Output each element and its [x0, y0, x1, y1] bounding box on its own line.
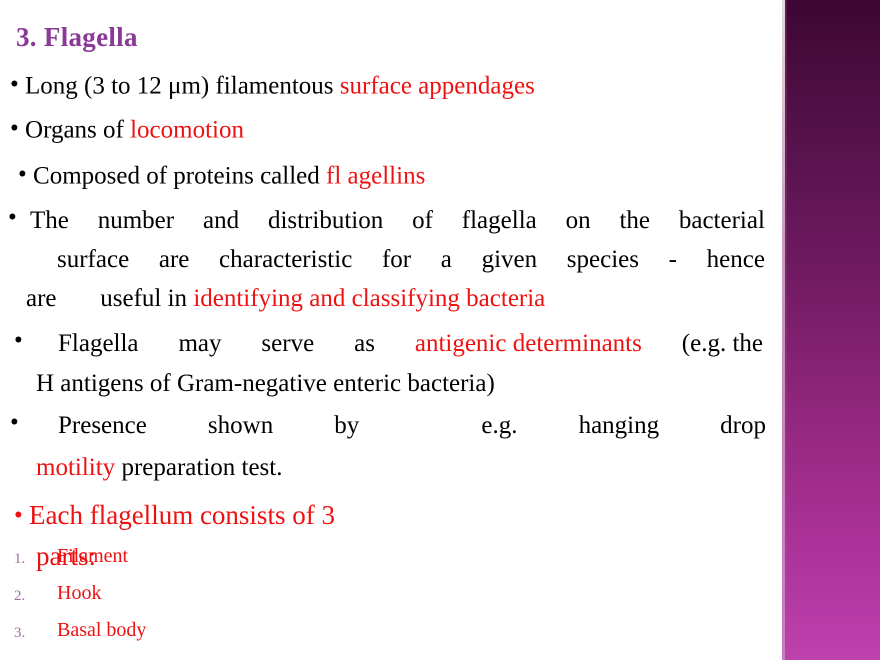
list-item-line: • The number and distribution of flagell…: [0, 207, 778, 246]
word: the: [619, 207, 650, 235]
word: e.g.: [481, 412, 517, 440]
word: as: [354, 330, 375, 358]
word: bacterial: [679, 207, 765, 235]
list-item-highlight: surface appendages: [340, 73, 535, 100]
list-item-text: Long (3 to 12 μm) filamentous: [25, 73, 340, 100]
list-item: • Presence shown by e.g. hanging drop mo…: [0, 412, 778, 496]
numbered-list: 1. Filament parts: 2. Hook 3. Basal body: [0, 545, 400, 656]
list-item-highlight: locomotion: [130, 117, 244, 144]
page-title: 3. Flagella: [16, 22, 138, 53]
justified-line: The number and distribution of flagella …: [30, 207, 765, 235]
word: on: [566, 207, 591, 235]
list-item-text: preparation test.: [115, 454, 282, 481]
word: of: [412, 207, 433, 235]
word: Presence: [58, 412, 147, 440]
word: (e.g. the: [682, 330, 763, 358]
list-item-text: Composed of proteins called: [33, 163, 326, 190]
justified-line: Flagella may serve as antigenic determin…: [58, 330, 763, 358]
word: given: [482, 246, 538, 274]
list-item: • Flagella may serve as antigenic determ…: [0, 330, 778, 410]
word: Flagella: [58, 330, 139, 358]
slide: 3. Flagella • Long (3 to 12 μm) filament…: [0, 0, 880, 660]
list-item: • Composed of proteins called fl agellin…: [18, 162, 425, 189]
word: number: [98, 207, 174, 235]
word: may: [178, 330, 221, 358]
word: drop: [720, 412, 766, 440]
word: for: [382, 246, 411, 274]
list-item-highlight: fl agellins: [326, 163, 425, 190]
list-item-highlight: motility: [36, 454, 115, 481]
list-item-line: are useful in identifying and classifyin…: [0, 285, 778, 324]
text-line: are useful in identifying and classifyin…: [26, 285, 778, 313]
side-panel-inner-edge: [785, 0, 787, 660]
list-item-line: surface are characteristic for a given s…: [0, 246, 778, 285]
bullet-dot-icon: •: [8, 205, 17, 230]
justified-line: Presence shown by e.g. hanging drop: [58, 412, 766, 440]
word: hence: [707, 246, 765, 274]
list-item-number: 3.: [14, 625, 25, 642]
word: hanging: [579, 412, 660, 440]
word: -: [669, 246, 677, 274]
bullet-dot-icon: •: [10, 116, 19, 141]
list-item: • Organs of locomotion: [10, 116, 244, 143]
decorative-side-panel: [782, 0, 880, 660]
word: The: [30, 207, 69, 235]
list-item-text: Organs of: [25, 117, 130, 144]
list-item: • The number and distribution of flagell…: [0, 207, 778, 324]
list-item-highlight: antigenic determinants: [415, 330, 642, 358]
list-item-text: are useful in: [26, 285, 193, 312]
overlapping-text-artifact: parts:: [36, 541, 96, 572]
word: shown: [208, 412, 273, 440]
slide-content-area: 3. Flagella • Long (3 to 12 μm) filament…: [0, 0, 782, 660]
word: characteristic: [219, 246, 352, 274]
word: flagella: [462, 207, 537, 235]
list-item-label: Hook: [57, 582, 101, 605]
word: are: [159, 246, 190, 274]
word: and: [203, 207, 239, 235]
list-item-number: 1.: [14, 551, 25, 568]
list-item-line: • Flagella may serve as antigenic determ…: [0, 330, 778, 370]
list-item-line: H antigens of Gram-negative enteric bact…: [0, 370, 778, 410]
list-item: 1. Filament parts:: [0, 545, 400, 582]
text-line: H antigens of Gram-negative enteric bact…: [36, 370, 778, 398]
word: surface: [57, 246, 129, 274]
bullet-dot-icon: •: [10, 410, 19, 435]
list-item: 3. Basal body: [0, 619, 400, 656]
word: serve: [261, 330, 314, 358]
list-item-highlight: identifying and classifying bacteria: [193, 285, 545, 312]
list-item: 2. Hook: [0, 582, 400, 619]
word: a: [441, 246, 452, 274]
bullet-dot-icon: •: [14, 328, 23, 353]
bullet-dot-icon: •: [18, 162, 27, 187]
list-item-number: 2.: [14, 588, 25, 605]
word: distribution: [268, 207, 383, 235]
list-item: • Each flagellum consists of 3: [14, 502, 335, 529]
justified-line: surface are characteristic for a given s…: [57, 246, 765, 274]
text-line: motility preparation test.: [36, 454, 778, 482]
list-item: • Long (3 to 12 μm) filamentous surface …: [10, 72, 535, 99]
bullet-dot-icon: •: [10, 72, 19, 97]
list-item-label: Basal body: [57, 619, 146, 642]
list-item-line: motility preparation test.: [0, 454, 778, 496]
word: by: [334, 412, 359, 440]
list-item-line: • Presence shown by e.g. hanging drop: [0, 412, 778, 454]
bullet-dot-icon: •: [14, 503, 23, 528]
word: species: [567, 246, 639, 274]
list-item-highlight: Each flagellum consists of 3: [29, 500, 335, 530]
